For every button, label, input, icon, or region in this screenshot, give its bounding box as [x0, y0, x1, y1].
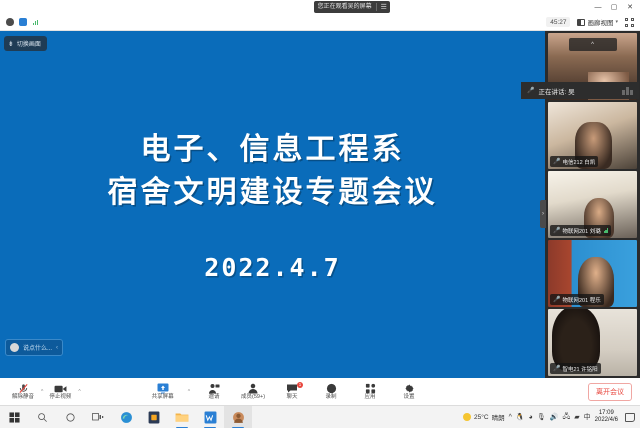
pin-icon: ⇟: [8, 40, 14, 48]
apps-label: 应用: [365, 395, 376, 401]
participant-tile[interactable]: 🎤 智电21 许铭阳: [548, 309, 637, 376]
edge-button[interactable]: [112, 406, 140, 428]
clock-time: 17:09: [595, 410, 618, 418]
network-icon[interactable]: 🖧: [562, 412, 570, 423]
stop-video-button[interactable]: 停止视频: [45, 383, 75, 401]
switch-view-label: 切换画面: [17, 39, 41, 48]
invite-button[interactable]: 邀请: [199, 383, 229, 401]
unmute-label: 解除静音: [12, 395, 34, 401]
start-button[interactable]: [0, 406, 28, 428]
members-icon: [247, 383, 259, 394]
switch-view-floating-button[interactable]: ⇟ 切换画面: [4, 36, 47, 51]
members-button[interactable]: 成员(59+): [238, 383, 268, 401]
record-label: 录制: [326, 395, 337, 401]
apps-icon: [365, 383, 376, 394]
slide-date: 2022.4.7: [204, 253, 340, 282]
participant-name: 电信212 白凯: [562, 158, 595, 166]
participant-video-strip: ^ 🎤 桥南203 涨娇娇 🎤 电信212 白凯 🎤 物联网201 刘璐: [545, 31, 640, 378]
tencent-meeting-button[interactable]: [224, 406, 252, 428]
window-controls: — ▢ ✕: [590, 0, 638, 14]
mic-icon[interactable]: 🎙: [537, 413, 546, 421]
weather-widget[interactable]: 25°C 晴朗: [463, 412, 505, 422]
desktop-screen: 您正在观看吴的屏幕 ☰ — ▢ ✕ 45:27 画廊视图 ▾: [0, 0, 640, 428]
top-right-controls: 45:27 画廊视图 ▾: [546, 17, 640, 27]
record-icon: [326, 383, 337, 394]
taskbar-clock[interactable]: 17:09 2022/4/6: [595, 410, 618, 425]
members-label: 成员(59+): [241, 395, 265, 401]
participant-tile[interactable]: 🎤 物联网201 刘璐: [548, 171, 637, 238]
gallery-view-label: 画廊视图: [587, 17, 613, 27]
window-title-bar: 您正在观看吴的屏幕 ☰ — ▢ ✕: [0, 0, 640, 14]
notification-icon[interactable]: [625, 413, 635, 422]
store-button[interactable]: [140, 406, 168, 428]
weather-condition: 晴朗: [492, 412, 505, 422]
quick-chat-input[interactable]: 说点什么... ‹: [5, 339, 63, 356]
mic-muted-icon: [18, 383, 29, 394]
participant-label: 🎤 物联网201 刘璐: [550, 225, 611, 236]
record-button[interactable]: 录制: [316, 383, 346, 401]
participant-tile[interactable]: 🎤 物联网201 程乐: [548, 240, 637, 307]
stop-video-label: 停止视频: [49, 395, 71, 401]
audio-level-icon: [604, 228, 609, 233]
wps-button[interactable]: [196, 406, 224, 428]
penguin-icon[interactable]: 🐧: [516, 413, 525, 421]
shield-icon: [6, 18, 14, 26]
chevron-down-icon[interactable]: ▾: [615, 19, 618, 25]
weather-temp: 25°C: [474, 414, 489, 421]
minimize-button[interactable]: —: [590, 0, 606, 14]
chat-unread-badge: 1: [297, 382, 303, 388]
active-speaker-banner: 🎤 正在讲话: 吴: [521, 82, 639, 99]
participant-name: 智电21 许铭阳: [562, 365, 597, 373]
quick-chat-placeholder: 说点什么...: [23, 343, 52, 352]
meeting-bottom-toolbar: 解除静音 ^ 停止视频 ^ 共享屏幕 ^: [0, 378, 640, 405]
apps-button[interactable]: 应用: [355, 383, 385, 401]
maximize-button[interactable]: ▢: [606, 0, 622, 14]
fullscreen-icon[interactable]: [625, 18, 634, 27]
meeting-top-toolbar: 45:27 画廊视图 ▾: [0, 14, 640, 31]
share-screen-label: 共享屏幕: [152, 395, 174, 401]
sun-icon: [463, 413, 471, 421]
share-options-chevron-icon[interactable]: ^: [188, 389, 190, 395]
volume-icon[interactable]: 🔊: [550, 413, 559, 421]
share-screen-icon: [157, 383, 169, 394]
slide-title-line-1: 电子、信息工程系: [141, 128, 405, 172]
tray-icons: ^ 🐧 ◕ 🎙 🔊 🖧 ▰ 中: [509, 412, 591, 423]
divider: [376, 3, 377, 11]
close-button[interactable]: ✕: [622, 0, 638, 14]
avatar: [10, 343, 19, 352]
toolbar-center-group: 共享屏幕 ^ 邀请 成员(59+) 1 聊天: [148, 383, 424, 401]
mic-muted-icon: 🎤: [553, 159, 560, 165]
shared-screen-stage[interactable]: 电子、信息工程系 宿舍文明建设专题会议 2022.4.7 ⇟ 切换画面 说点什么…: [0, 31, 545, 378]
tile-scroll-up-button[interactable]: ^: [569, 38, 617, 51]
settings-button[interactable]: 设置: [394, 383, 424, 401]
meeting-timer: 45:27: [546, 17, 570, 27]
taskbar-app-buttons: [0, 406, 252, 428]
mic-muted-icon: 🎤: [527, 88, 534, 94]
menu-icon[interactable]: ☰: [381, 4, 387, 11]
top-left-status-icons: [0, 18, 38, 26]
gallery-view-button[interactable]: 画廊视图 ▾: [577, 17, 618, 27]
windows-taskbar: 25°C 晴朗 ^ 🐧 ◕ 🎙 🔊 🖧 ▰ 中 17:09 2022/4/6: [0, 405, 640, 428]
audio-wave-icon: [622, 87, 633, 95]
slide-title-line-2: 宿舍文明建设专题会议: [108, 171, 438, 215]
participant-label: 🎤 电信212 白凯: [550, 156, 598, 167]
security-icon[interactable]: [19, 18, 27, 26]
file-explorer-button[interactable]: [168, 406, 196, 428]
chat-button[interactable]: 1 聊天: [277, 383, 307, 401]
screen-share-notice: 您正在观看吴的屏幕 ☰: [314, 1, 391, 13]
gear-icon: [404, 383, 415, 394]
mic-muted-icon: 🎤: [553, 297, 560, 303]
mic-muted-icon: 🎤: [553, 366, 560, 372]
gallery-view-icon: [577, 19, 585, 26]
toolbar-right-group: 离开会议: [588, 383, 640, 401]
participant-name: 物联网201 程乐: [562, 296, 600, 304]
app-icon[interactable]: ◕: [529, 414, 533, 421]
battery-icon[interactable]: ▰: [574, 413, 579, 421]
toolbar-left-group: 解除静音 ^ 停止视频 ^: [0, 383, 81, 401]
presentation-slide: 电子、信息工程系 宿舍文明建设专题会议 2022.4.7: [0, 31, 545, 378]
leave-meeting-button[interactable]: 离开会议: [588, 383, 632, 401]
task-view-button[interactable]: [84, 406, 112, 428]
chevron-up-icon[interactable]: ^: [509, 414, 512, 421]
chevron-left-icon[interactable]: ‹: [56, 345, 58, 351]
participant-tile[interactable]: 🎤 电信212 白凯: [548, 102, 637, 169]
taskbar-system-tray: 25°C 晴朗 ^ 🐧 ◕ 🎙 🔊 🖧 ▰ 中 17:09 2022/4/6: [463, 410, 640, 425]
participant-label: 🎤 智电21 许铭阳: [550, 363, 601, 374]
network-signal-icon: [33, 20, 38, 25]
camera-options-chevron-icon[interactable]: ^: [78, 389, 80, 395]
participant-name: 物联网201 刘璐: [562, 227, 600, 235]
active-speaker-label: 正在讲话: 吴: [538, 86, 574, 96]
invite-icon: [208, 383, 220, 394]
mic-options-chevron-icon[interactable]: ^: [41, 389, 43, 395]
screen-share-notice-text: 您正在观看吴的屏幕: [318, 4, 372, 10]
search-button[interactable]: [28, 406, 56, 428]
chat-label: 聊天: [287, 395, 298, 401]
participant-label: 🎤 物联网201 程乐: [550, 294, 604, 305]
camera-icon: [54, 383, 67, 394]
mic-muted-icon: 🎤: [553, 228, 560, 234]
settings-label: 设置: [404, 395, 415, 401]
share-screen-button[interactable]: 共享屏幕: [148, 383, 178, 401]
unmute-button[interactable]: 解除静音: [8, 383, 38, 401]
ime-indicator[interactable]: 中: [584, 412, 591, 422]
cortana-button[interactable]: [56, 406, 84, 428]
collapse-panel-handle[interactable]: ›: [540, 200, 546, 228]
invite-label: 邀请: [209, 395, 220, 401]
clock-date: 2022/4/6: [595, 417, 618, 425]
